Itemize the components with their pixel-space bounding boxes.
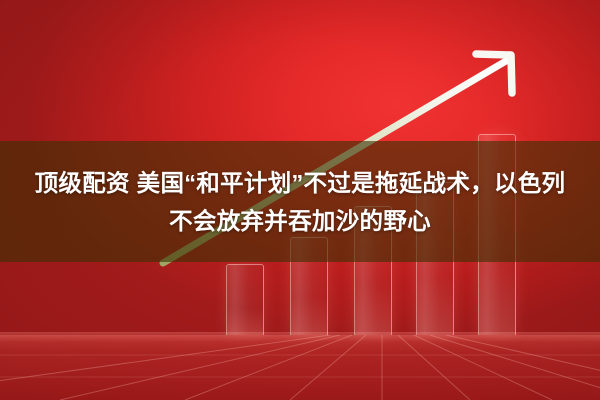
headline-band: 顶级配资 美国“和平计划”不过是拖延战术，以色列不会放弃并吞加沙的野心 (0, 141, 600, 262)
chart-bar-1 (226, 264, 264, 335)
thumbnail-canvas: 顶级配资 美国“和平计划”不过是拖延战术，以色列不会放弃并吞加沙的野心 (0, 0, 600, 400)
page-title: 顶级配资 美国“和平计划”不过是拖延战术，以色列不会放弃并吞加沙的野心 (30, 164, 570, 240)
